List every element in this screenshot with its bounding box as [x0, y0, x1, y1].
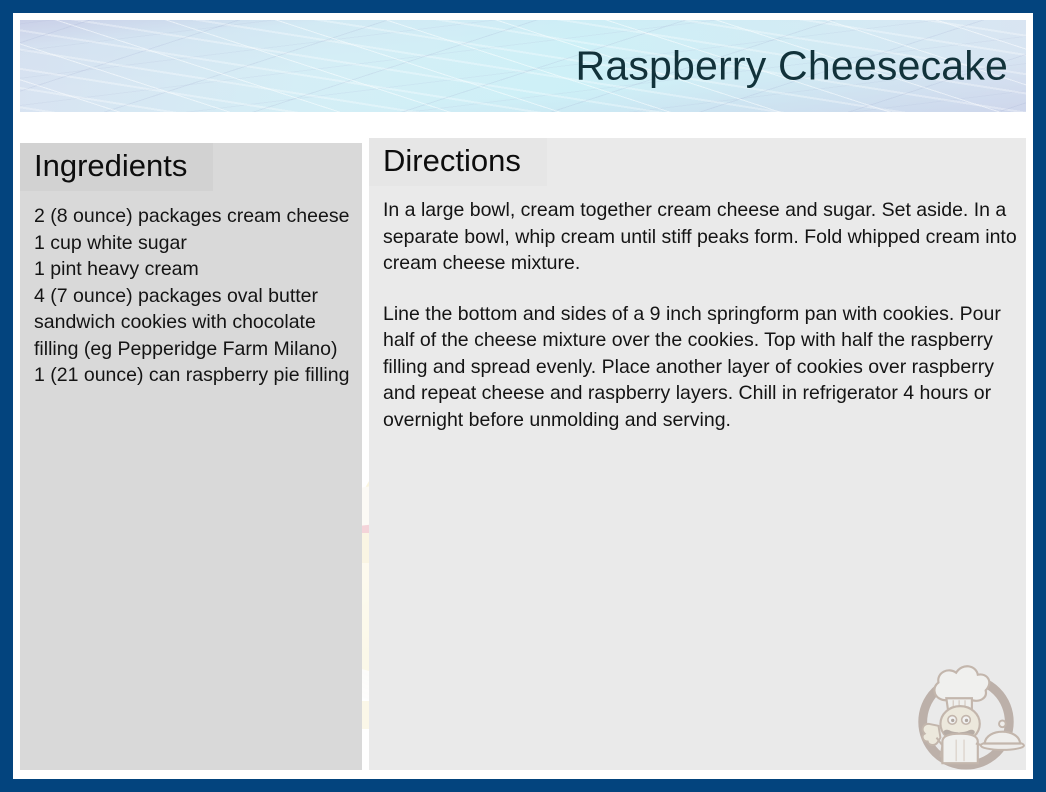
directions-heading: Directions	[369, 138, 547, 186]
ingredients-panel: Ingredients 2 (8 ounce) packages cream c…	[20, 143, 362, 770]
directions-panel: Directions In a large bowl, cream togeth…	[369, 138, 1026, 770]
ingredients-list: 2 (8 ounce) packages cream cheese 1 cup …	[34, 203, 358, 389]
card-inner-surface: Raspberry Cheesecake	[13, 13, 1033, 779]
directions-paragraph: In a large bowl, cream together cream ch…	[383, 197, 1020, 277]
page-title: Raspberry Cheesecake	[576, 44, 1008, 87]
header-banner: Raspberry Cheesecake	[20, 20, 1026, 112]
recipe-card: Raspberry Cheesecake	[0, 0, 1046, 792]
directions-text: In a large bowl, cream together cream ch…	[383, 197, 1020, 433]
directions-paragraph: Line the bottom and sides of a 9 inch sp…	[383, 301, 1020, 434]
ingredients-heading: Ingredients	[20, 143, 213, 191]
